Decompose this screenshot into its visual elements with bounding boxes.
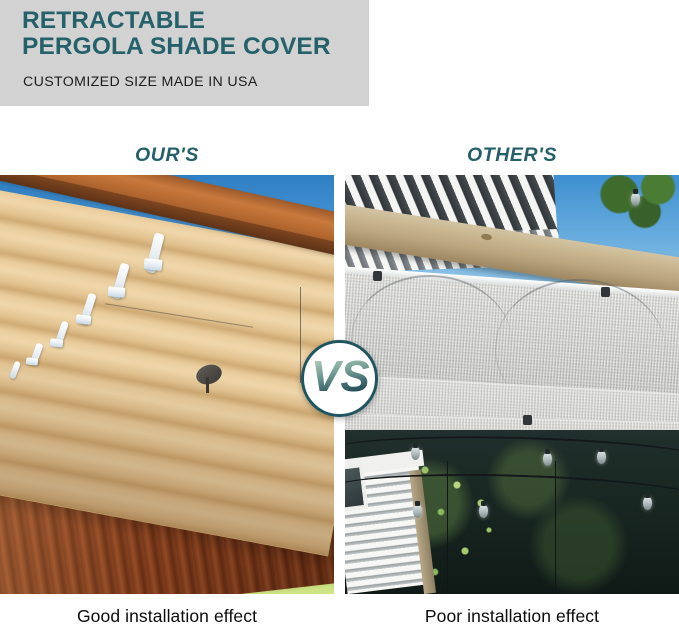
- string-light-bulb: [413, 505, 422, 518]
- header-banner: RETRACTABLE PERGOLA SHADE COVER CUSTOMIZ…: [0, 0, 369, 106]
- canopy-strap: [76, 314, 92, 325]
- vs-badge: VS: [301, 340, 378, 417]
- caption-poor-installation: Poor installation effect: [345, 606, 679, 627]
- vs-letter-v: VS: [311, 357, 369, 401]
- string-light-wire-vertical: [447, 461, 448, 591]
- support-cable: [300, 287, 301, 383]
- canopy-strap: [108, 286, 126, 298]
- photo-poor-installation: [345, 175, 679, 594]
- canopy-strap: [50, 338, 64, 348]
- canopy-strap: [143, 258, 162, 271]
- string-light-bulb: [543, 453, 552, 466]
- column-label-others: OTHER'S: [345, 144, 679, 167]
- page-title: RETRACTABLE PERGOLA SHADE COVER: [22, 8, 366, 59]
- page-subtitle: CUSTOMIZED SIZE MADE IN USA: [23, 74, 258, 90]
- canopy-strap: [26, 357, 39, 365]
- page-title-line-2: PERGOLA SHADE COVER: [22, 34, 366, 60]
- string-light-bulb: [643, 497, 652, 510]
- string-light-bulb: [479, 505, 488, 518]
- mesh-clip: [601, 287, 610, 297]
- string-light-bulb: [597, 451, 606, 464]
- string-light-wire-vertical: [555, 461, 556, 591]
- column-label-ours: OUR'S: [0, 144, 334, 167]
- photo-good-installation: [0, 175, 334, 594]
- satellite-dish-arm: [206, 377, 209, 393]
- mesh-clip: [373, 271, 382, 281]
- page-title-line-1: RETRACTABLE: [22, 8, 366, 34]
- string-light-bulb: [631, 193, 640, 206]
- mesh-clip: [523, 415, 532, 425]
- caption-good-installation: Good installation effect: [0, 606, 334, 627]
- string-light-bulb: [411, 447, 420, 460]
